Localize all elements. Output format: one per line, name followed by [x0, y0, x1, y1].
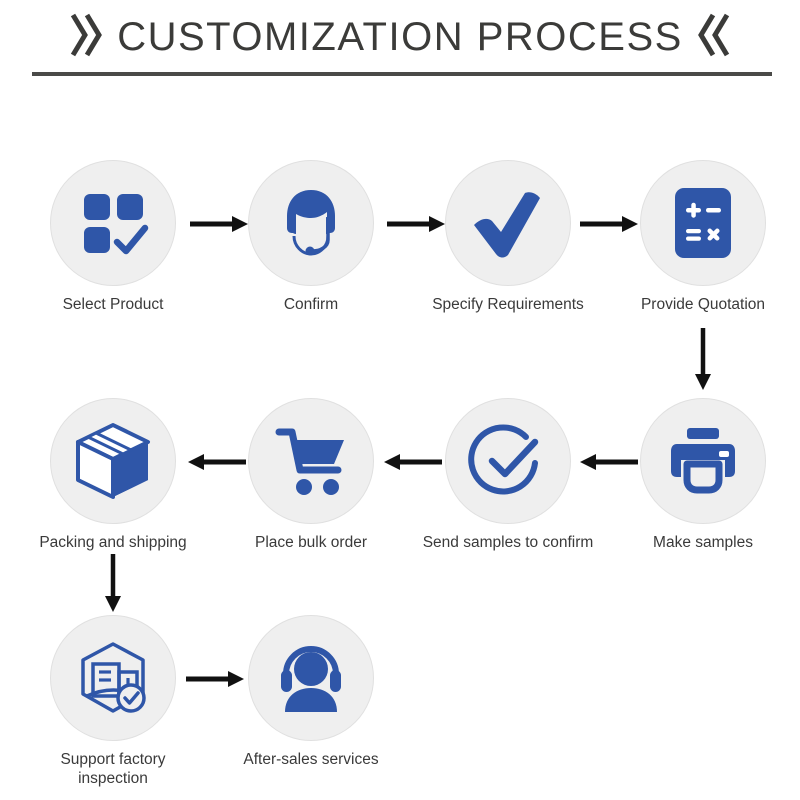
process-step-send-samples-to-confirm[interactable]: Send samples to confirm [428, 398, 588, 552]
headset-person-icon [272, 640, 350, 716]
step-icon-circle [248, 615, 374, 741]
page-title-text: CUSTOMIZATION PROCESS [117, 15, 683, 60]
step-icon-circle [445, 398, 571, 524]
factory-verified-icon [73, 638, 153, 718]
connector-arrow-down-right [692, 328, 714, 390]
printer-icon [663, 424, 743, 498]
title-divider [32, 72, 772, 76]
support-agent-icon [272, 184, 350, 262]
step-label: Send samples to confirm [423, 533, 594, 552]
step-label: Provide Quotation [641, 295, 765, 314]
process-step-confirm[interactable]: Confirm [231, 160, 391, 314]
step-label: Make samples [653, 533, 753, 552]
step-icon-circle [248, 398, 374, 524]
step-icon-circle [640, 398, 766, 524]
process-step-after-sales-services[interactable]: After-sales services [231, 615, 391, 769]
page-title: CUSTOMIZATION PROCESS [0, 8, 800, 66]
process-row-3: Support factory inspection [0, 615, 800, 795]
step-label: Support factory inspection [38, 750, 188, 789]
process-step-specify-requirements[interactable]: Specify Requirements [428, 160, 588, 314]
process-step-make-samples[interactable]: Make samples [623, 398, 783, 552]
process-step-place-bulk-order[interactable]: Place bulk order [231, 398, 391, 552]
process-step-support-factory-inspection[interactable]: Support factory inspection [33, 615, 193, 789]
circle-check-icon [468, 421, 548, 501]
chevron-left-decoration-icon [689, 11, 735, 63]
chevron-right-decoration-icon [65, 11, 111, 63]
customization-process-infographic: CUSTOMIZATION PROCESS [0, 0, 800, 800]
calculator-icon [667, 184, 739, 262]
step-label: Place bulk order [255, 533, 367, 552]
process-step-packing-and-shipping[interactable]: Packing and shipping [33, 398, 193, 552]
step-icon-circle [50, 615, 176, 741]
step-icon-circle [50, 398, 176, 524]
header: CUSTOMIZATION PROCESS [0, 0, 800, 92]
step-label: After-sales services [243, 750, 378, 769]
step-label: Confirm [284, 295, 338, 314]
step-label: Specify Requirements [432, 295, 584, 314]
connector-arrow-down-left [102, 554, 124, 612]
step-icon-circle [445, 160, 571, 286]
process-row-2: Packing and shipping Place bu [0, 398, 800, 568]
step-icon-circle [50, 160, 176, 286]
step-icon-circle [248, 160, 374, 286]
grid-check-icon [76, 186, 150, 260]
step-label: Select Product [63, 295, 164, 314]
process-step-provide-quotation[interactable]: Provide Quotation [623, 160, 783, 314]
shopping-cart-icon [270, 422, 352, 500]
process-step-select-product[interactable]: Select Product [33, 160, 193, 314]
process-row-1: Select Product [0, 160, 800, 330]
package-box-icon [72, 420, 154, 502]
checkmark-icon [468, 183, 548, 263]
step-icon-circle [640, 160, 766, 286]
step-label: Packing and shipping [39, 533, 186, 552]
